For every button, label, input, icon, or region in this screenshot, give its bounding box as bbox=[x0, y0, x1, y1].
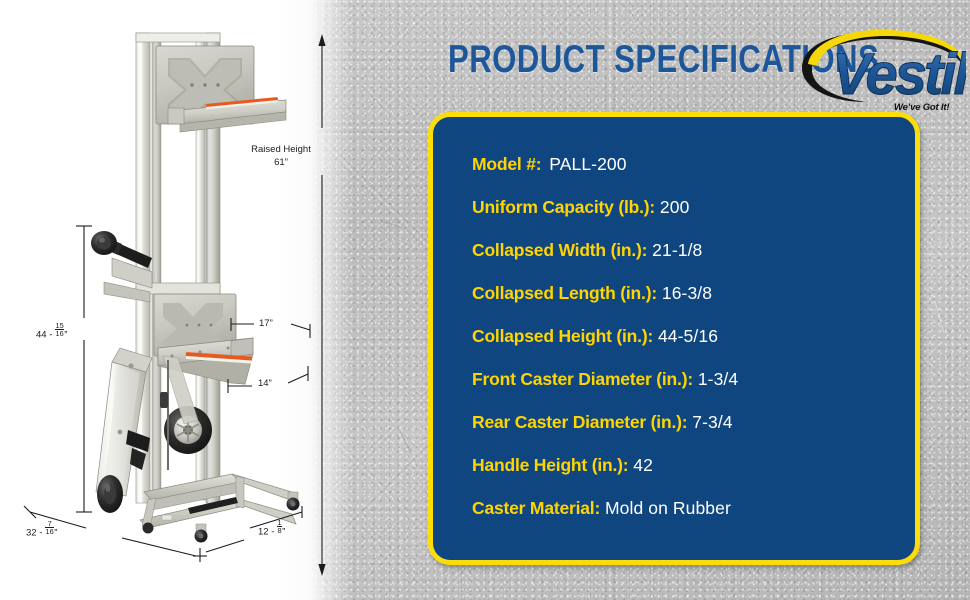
spec-label: Uniform Capacity (lb.): bbox=[472, 197, 655, 217]
spec-value: 44-5/16 bbox=[658, 326, 718, 346]
spec-row: Collapsed Width (in.): 21-1/8 bbox=[472, 229, 905, 272]
dimension-raised-height: Raised Height 61” bbox=[238, 143, 324, 169]
dimension-base-width: 12 - 18” bbox=[258, 519, 285, 538]
dimension-base-length-unit: ” bbox=[54, 528, 57, 539]
spec-row: Front Caster Diameter (in.): 1-3/4 bbox=[472, 358, 905, 401]
spec-label: Collapsed Height (in.): bbox=[472, 326, 653, 346]
spec-row: Handle Height (in.): 42 bbox=[472, 444, 905, 487]
fraction-glyph: 1516 bbox=[55, 322, 64, 338]
dimension-base-width-unit: ” bbox=[282, 527, 285, 538]
dimension-raised-height-label: Raised Height bbox=[251, 144, 311, 155]
spec-label: Rear Caster Diameter (in.): bbox=[472, 412, 687, 432]
spec-row: Caster Material: Mold on Rubber bbox=[472, 487, 905, 530]
spec-label: Handle Height (in.): bbox=[472, 455, 628, 475]
dimension-collapsed-height-whole: 44 - bbox=[36, 330, 55, 341]
specifications-list: Model #: PALL-200Uniform Capacity (lb.):… bbox=[472, 143, 905, 530]
spec-value: 200 bbox=[660, 197, 690, 217]
svg-text:Vestil: Vestil bbox=[832, 42, 966, 107]
dimension-base-length-whole: 32 - bbox=[26, 528, 45, 539]
spec-value: 1-3/4 bbox=[698, 369, 738, 389]
spec-value: 21-1/8 bbox=[652, 240, 702, 260]
spec-row: Model #: PALL-200 bbox=[472, 143, 905, 186]
spec-value: 42 bbox=[633, 455, 653, 475]
spec-label: Model #: bbox=[472, 154, 541, 174]
vestil-logo[interactable]: Vestil We’ve Got It! bbox=[790, 24, 966, 116]
dimension-base-length: 32 - 716” bbox=[26, 520, 57, 539]
header: PRODUCT SPECIFICATIONS Vestil We’ve Got … bbox=[424, 28, 970, 110]
spec-row: Collapsed Length (in.): 16-3/8 bbox=[472, 272, 905, 315]
fraction-glyph: 716 bbox=[45, 520, 54, 536]
specifications-panel: Model #: PALL-200Uniform Capacity (lb.):… bbox=[428, 112, 920, 565]
dimension-collapsed-height: 44 - 1516” bbox=[36, 322, 67, 341]
spec-label: Collapsed Length (in.): bbox=[472, 283, 657, 303]
spec-value: Mold on Rubber bbox=[605, 498, 731, 518]
logo-tagline: We’ve Got It! bbox=[894, 102, 949, 113]
spec-label: Front Caster Diameter (in.): bbox=[472, 369, 693, 389]
spec-value: 7-3/4 bbox=[692, 412, 732, 432]
dimension-platform-depth: 17” bbox=[259, 318, 273, 329]
spec-label: Caster Material: bbox=[472, 498, 600, 518]
spec-label: Collapsed Width (in.): bbox=[472, 240, 647, 260]
dimension-collapsed-height-unit: ” bbox=[64, 330, 67, 341]
product-photo bbox=[0, 0, 352, 600]
spec-value: PALL-200 bbox=[549, 154, 626, 174]
dimension-platform-width: 14” bbox=[258, 378, 272, 389]
dimension-raised-height-value: 61” bbox=[274, 157, 288, 168]
spec-value: 16-3/8 bbox=[662, 283, 712, 303]
spec-row: Collapsed Height (in.): 44-5/16 bbox=[472, 315, 905, 358]
dimension-base-width-whole: 12 - bbox=[258, 527, 277, 538]
spec-row: Uniform Capacity (lb.): 200 bbox=[472, 186, 905, 229]
spec-row: Rear Caster Diameter (in.): 7-3/4 bbox=[472, 401, 905, 444]
